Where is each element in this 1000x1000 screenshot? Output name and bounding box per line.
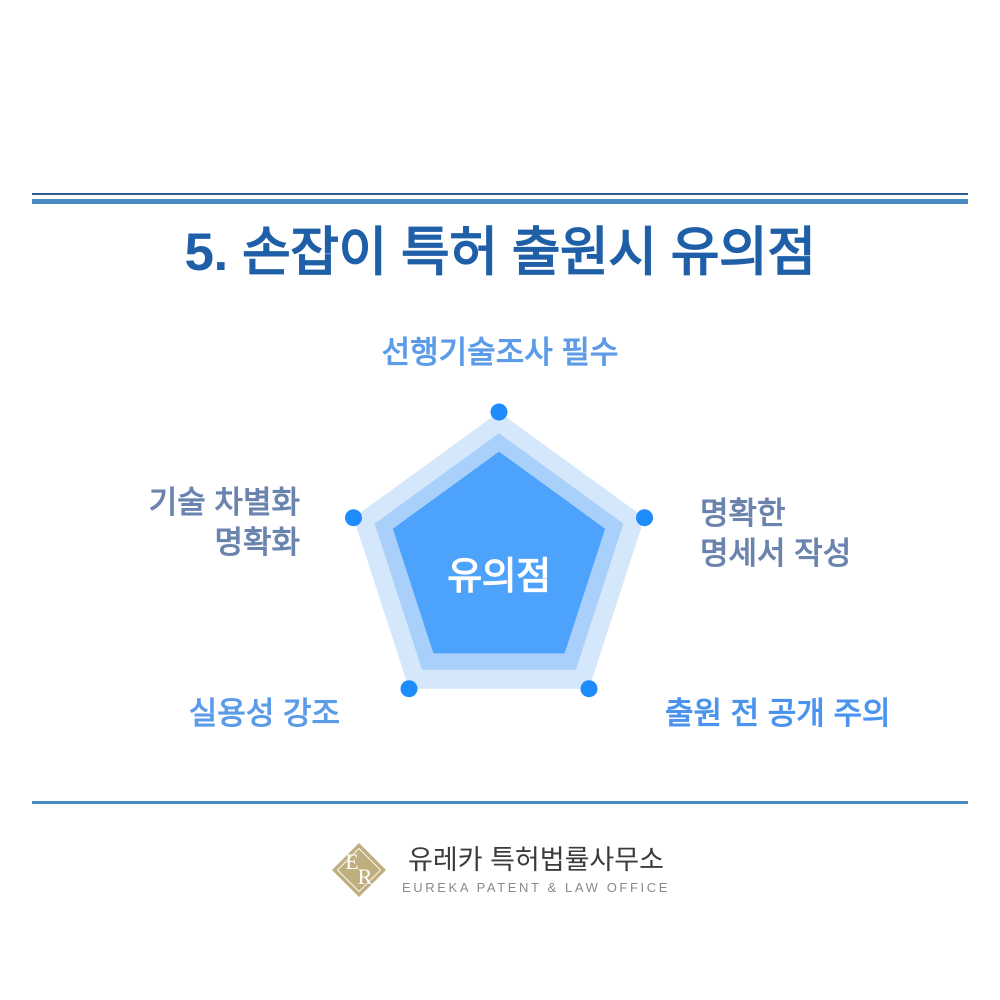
node-label-left-line1: 기술 차별화 [20,483,300,523]
footer-divider [32,801,968,804]
logo-letter-r: R [358,864,373,889]
footer-text-block: 유레카 특허법률사무소 EUREKA PATENT & LAW OFFICE [402,845,670,895]
node-label-bottom-left: 실용성 강조 [0,694,340,734]
header-divider [32,193,968,205]
vertex-dot-bottom-left[interactable] [401,680,418,697]
vertex-dot-bottom-right[interactable] [581,680,598,697]
node-label-right: 명확한 명세서 작성 [700,494,980,573]
header-divider-thin-line [32,193,968,195]
header-divider-thick-line [32,199,968,204]
page-title: 5. 손잡이 특허 출원시 유의점 [0,222,1000,285]
footer: E R 유레카 특허법률사무소 EUREKA PATENT & LAW OFFI… [0,830,1000,910]
slide-root: 5. 손잡이 특허 출원시 유의점 유의점 선행기술조사 필수 명확한 명세서 … [0,0,1000,1000]
vertex-dot-left[interactable] [345,509,362,526]
node-label-bottom-right: 출원 전 공개 주의 [665,694,995,734]
node-label-top: 선행기술조사 필수 [250,333,750,373]
pentagon-center-label: 유의점 [399,545,599,600]
node-label-right-line2: 명세서 작성 [700,534,980,574]
vertex-dot-right[interactable] [636,509,653,526]
vertex-dot-top[interactable] [491,404,508,421]
footer-office-name-kr: 유레카 특허법률사무소 [408,845,664,876]
node-label-right-line1: 명확한 [700,494,980,534]
footer-office-name-en: EUREKA PATENT & LAW OFFICE [402,880,670,895]
node-label-left: 기술 차별화 명확화 [20,483,300,562]
node-label-left-line2: 명확화 [20,523,300,563]
eureka-diamond-logo-icon: E R [330,841,388,899]
